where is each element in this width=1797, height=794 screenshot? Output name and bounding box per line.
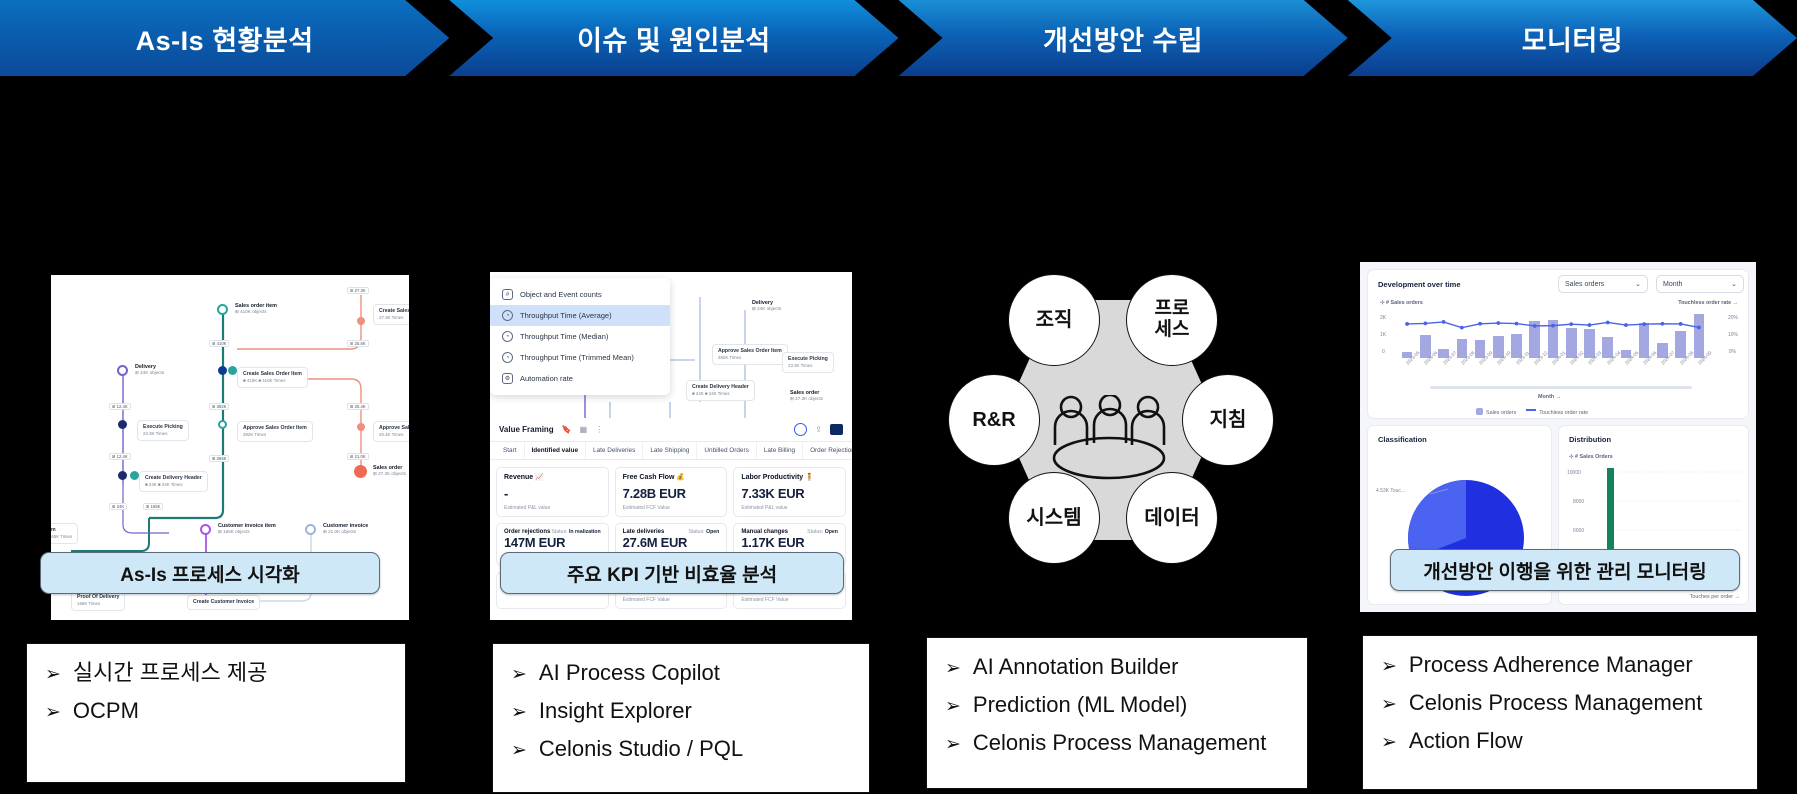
bullets-monitor: ➢ Process Adherence Manager ➢ Celonis Pr… — [1362, 635, 1758, 790]
kpi-footer: Estimated FCF Value — [741, 597, 838, 603]
tab-late-deliveries[interactable]: Late Deliveries — [586, 442, 643, 459]
object-node-delivery[interactable] — [117, 365, 128, 376]
arrow-bullet-icon: ➢ — [45, 665, 61, 684]
chart-icon: 📈 — [535, 474, 544, 481]
activity-node-create-customer-invoice[interactable]: Create Customer Invoice — [187, 595, 260, 610]
kpi-value: 27.6M EUR — [623, 535, 720, 550]
activity-title: Approve Sales Order Item — [243, 425, 307, 432]
kpi-value: 1.17K EUR — [741, 535, 838, 550]
phase-step-1[interactable]: As-Is 현황분석 — [0, 0, 449, 76]
kpi-title-label: Free Cash Flow — [623, 474, 675, 481]
hex-bubble-데이터[interactable]: 데이터 — [1126, 472, 1218, 564]
activity-title: Approve Sales Order — [379, 425, 409, 432]
arrow-bullet-icon: ➢ — [945, 659, 961, 678]
point-2024-09[interactable] — [1697, 326, 1701, 330]
chart-title-development: Development over time — [1378, 280, 1461, 289]
list-item-label: Prediction (ML Model) — [973, 694, 1187, 716]
menu-item-object-and-event-counts[interactable]: # Object and Event counts — [490, 284, 670, 305]
edge-marker — [218, 366, 227, 375]
activity-node-execute-picking[interactable]: Execute Picking 23.3K Times — [137, 420, 189, 441]
list-item: ➢ Celonis Process Management — [945, 732, 1289, 754]
edge-count-tag: ⊞ 410K — [209, 340, 229, 347]
value-framing-title: Value Framing — [499, 425, 554, 434]
y2-axis-label-touchless: Touchless order rate → — [1678, 300, 1738, 306]
clock-icon: ◔ — [502, 310, 513, 321]
hex-bubble-label: 프로 세스 — [1155, 299, 1190, 341]
status-badge: Status: Open — [688, 529, 719, 535]
x-axis-label-month: Month → — [1538, 394, 1561, 400]
edge-marker — [130, 471, 139, 480]
list-item: ➢ OCPM — [45, 700, 387, 722]
activity-node-create-delivery-header-bg[interactable]: Create Delivery Header ■ 24K ■ 24K Times — [686, 380, 755, 401]
metrics-menu[interactable]: # Object and Event counts ◔ Throughput T… — [490, 278, 670, 395]
bullet-list: ➢ Process Adherence Manager ➢ Celonis Pr… — [1381, 654, 1739, 752]
x-tick-labels: 2023-052023-062023-072023-082023-092023-… — [1398, 362, 1718, 388]
kpi-card-revenue[interactable]: Revenue 📈 - Estimated P&L value — [496, 467, 609, 517]
y-tick: 6000 — [1573, 528, 1584, 534]
edge-marker — [357, 423, 365, 431]
edge-count-tag: ⊞ 25.5K — [347, 340, 369, 347]
activity-title: Execute Picking — [788, 356, 828, 363]
hex-bubble-label: 데이터 — [1144, 507, 1199, 529]
point-2024-01[interactable] — [1551, 324, 1555, 328]
point-2023-05[interactable] — [1405, 322, 1409, 326]
object-node-sales-order-item[interactable] — [217, 304, 228, 315]
menu-item-throughput-time-average[interactable]: ◔ Throughput Time (Average) — [490, 305, 670, 326]
bullet-list: ➢ AI Process Copilot ➢ Insight Explorer … — [511, 662, 851, 760]
edge-count-tag: ⊞ 21.0K — [347, 453, 369, 460]
y-tick: 8000 — [1573, 499, 1584, 505]
grid-icon[interactable]: ▦ — [580, 425, 588, 434]
activity-node-execute-picking-bg[interactable]: Execute Picking 23.3K Times — [782, 352, 834, 373]
phase-step-3-label: 개선방안 수립 — [1043, 19, 1203, 58]
activity-node-create-delivery-header[interactable]: Create Delivery Header ■ 24K ■ 24K Times — [139, 471, 208, 492]
arrow-bullet-icon: ➢ — [511, 741, 527, 760]
publish-button[interactable] — [830, 424, 843, 435]
edge-marker — [218, 420, 227, 429]
activity-node-approve-sales-order[interactable]: Approve Sales Order 25.4K Times — [373, 421, 409, 442]
legend-swatch-bar — [1476, 408, 1483, 415]
y-tick: 1K — [1380, 332, 1386, 338]
kpi-card-free-cash-flow[interactable]: Free Cash Flow 💰 7.28B EUR Estimated FCF… — [615, 467, 728, 517]
share-icon[interactable]: ⇪ — [815, 425, 822, 434]
activity-sub: 382K Times — [718, 355, 782, 361]
dropdown-sales-orders-value: Sales orders — [1565, 281, 1604, 288]
edge-count-tag: ⊞ 12.4K — [109, 453, 131, 460]
y2-tick: 0% — [1729, 349, 1736, 355]
point-2023-08[interactable] — [1460, 326, 1464, 330]
bullet-list: ➢ AI Annotation Builder ➢ Prediction (ML… — [945, 656, 1289, 754]
legend-swatch-line — [1526, 409, 1536, 411]
activity-sub: ■ 24K ■ 24K Times — [692, 391, 749, 397]
caption-issue: 주요 KPI 기반 비효율 분석 — [500, 552, 844, 594]
object-label-delivery: Delivery⊞ 24K objects — [135, 364, 164, 376]
phase-step-2-label: 이슈 및 원인분석 — [577, 19, 770, 58]
activity-node-partial-item[interactable]: item ■ 165K Times — [51, 523, 78, 544]
hex-bubble-label: R&R — [972, 409, 1015, 431]
legend-item-touchless: Touchless order rate — [1526, 409, 1588, 416]
list-item: ➢ AI Annotation Builder — [945, 656, 1289, 678]
y-tick: 10000 — [1567, 470, 1581, 476]
object-node-customer-invoice[interactable] — [305, 524, 316, 535]
status-value: Open — [706, 529, 719, 535]
list-item-label: Action Flow — [1409, 730, 1523, 752]
point-2024-07[interactable] — [1661, 322, 1665, 326]
activity-node-create-sales-order-header[interactable]: Create Sales Order Header 27.3K Times — [373, 304, 409, 325]
status-label: Status — [807, 529, 822, 535]
bookmark-icon[interactable]: 🔖 — [562, 425, 572, 434]
line-series-touchless-order-rate — [1398, 312, 1708, 358]
activity-sub: ■ 165K Times — [51, 534, 72, 540]
activity-title: item — [51, 527, 72, 534]
bullets-as-is: ➢ 실시간 프로세스 제공 ➢ OCPM — [26, 643, 406, 783]
avatar[interactable] — [794, 423, 807, 436]
arrow-bullet-icon: ➢ — [1381, 657, 1397, 676]
y-tick: 2K — [1380, 315, 1386, 321]
point-2023-07[interactable] — [1442, 320, 1446, 324]
activity-sub: 382K Times — [243, 432, 307, 438]
object-node-customer-invoice-item[interactable] — [200, 524, 211, 535]
status-badge: Status: Open — [807, 529, 838, 535]
status-value: In realization — [569, 529, 601, 535]
tab-late-billing[interactable]: Late Billing — [757, 442, 803, 459]
kpi-title: Labor Productivity 🧍 — [741, 473, 838, 481]
list-item-label: Insight Explorer — [539, 700, 692, 722]
edge-count-tag: ⊞ 25.4K — [347, 403, 369, 410]
activity-node-approve-sales-order-item-bg[interactable]: Approve Sales Order Item 382K Times — [712, 344, 788, 365]
card-development-over-time: Development over time Sales orders ⌄ Mon… — [1367, 269, 1749, 419]
activity-sub: 23.3K Times — [143, 431, 183, 437]
chevron-down-icon: ⌄ — [1635, 280, 1641, 288]
edge-count-tag: ⊞ 12.4K — [109, 403, 131, 410]
caption-monitor: 개선방안 이행을 위한 관리 모니터링 — [1390, 549, 1740, 591]
more-icon[interactable]: ⋮ — [595, 425, 603, 434]
process-phase-header: As-Is 현황분석 이슈 및 원인분석 개선방안 수립 모니터링 — [0, 0, 1797, 76]
activity-sub: 27.3K Times — [379, 315, 409, 321]
object-label-sales-order-bg: Sales order⊞ 27.3K objects — [790, 390, 823, 402]
activity-sub: ■ 24K ■ 24K Times — [145, 482, 202, 488]
caption-monitor-label: 개선방안 이행을 위한 관리 모니터링 — [1423, 557, 1706, 584]
activity-node-create-sales-order-item[interactable]: Create Sales Order Item ■ 410K ■ 410K Ti… — [237, 367, 308, 388]
activity-title: Create Delivery Header — [145, 475, 202, 482]
list-item-label: AI Process Copilot — [539, 662, 720, 684]
tab-identified-value[interactable]: Identified value — [525, 442, 587, 459]
edge-count-tag: ⊞ 365K — [209, 455, 229, 462]
activity-sub: 165K Times — [77, 601, 119, 607]
phase-step-1-label: As-Is 현황분석 — [136, 19, 314, 58]
activity-title: Create Sales Order Header — [379, 308, 409, 315]
edge-marker — [357, 317, 365, 325]
menu-item-label: Automation rate — [520, 374, 573, 383]
menu-item-label: Object and Event counts — [520, 290, 602, 299]
phase-step-3[interactable]: 개선방안 수립 — [899, 0, 1348, 76]
activity-node-approve-sales-order-item[interactable]: Approve Sales Order Item 382K Times — [237, 421, 313, 442]
caption-as-is: As-Is 프로세스 시각화 — [40, 552, 380, 594]
activity-sub: 25.4K Times — [379, 432, 409, 438]
kpi-footer: Estimated FCF Value — [623, 505, 720, 511]
money-icon: 💰 — [676, 474, 685, 481]
tab-start[interactable]: Start — [496, 442, 525, 459]
legend-label: Sales orders — [1486, 410, 1516, 416]
kpi-title-label: Revenue — [504, 474, 533, 481]
list-item: ➢ Prediction (ML Model) — [945, 694, 1289, 716]
arrow-bullet-icon: ➢ — [1381, 695, 1397, 714]
list-item-label: AI Annotation Builder — [973, 656, 1178, 678]
list-item-label: Process Adherence Manager — [1409, 654, 1693, 676]
point-2024-06[interactable] — [1642, 322, 1646, 326]
kpi-value: - — [504, 486, 601, 501]
hex-bubble-프로세스[interactable]: 프로 세스 — [1126, 274, 1218, 366]
dropdown-month-value: Month — [1663, 281, 1682, 288]
edge-count-tag: ⊞ 24K — [109, 503, 127, 510]
list-item: ➢ 실시간 프로세스 제공 — [45, 662, 387, 684]
hex-bubble-지침[interactable]: 지침 — [1182, 374, 1274, 466]
list-item: ➢ Insight Explorer — [511, 700, 851, 722]
tab-order-rejections[interactable]: Order Rejections — [803, 442, 852, 459]
point-2023-09[interactable] — [1478, 322, 1482, 326]
arrow-bullet-icon: ➢ — [45, 703, 61, 722]
list-item: ➢ AI Process Copilot — [511, 662, 851, 684]
value-framing-tabs[interactable]: Start Identified value Late Deliveries L… — [490, 442, 852, 460]
activity-sub: 23.3K Times — [788, 363, 828, 369]
arrow-bullet-icon: ➢ — [945, 735, 961, 754]
arrow-bullet-icon: ➢ — [945, 697, 961, 716]
hash-icon: # — [502, 289, 513, 300]
menu-item-automation-rate[interactable]: ⚙ Automation rate — [490, 368, 670, 389]
menu-item-throughput-time-median[interactable]: ◔ Throughput Time (Median) — [490, 326, 670, 347]
y-tick: 0 — [1382, 349, 1385, 355]
kpi-value: 7.28B EUR — [623, 486, 720, 501]
menu-item-label: Throughput Time (Median) — [520, 332, 608, 341]
kpi-value: 147M EUR — [504, 535, 601, 550]
kpi-card-labor-productivity[interactable]: Labor Productivity 🧍 7.33K EUR Estimated… — [733, 467, 846, 517]
hex-bubble-label: 조직 — [1036, 309, 1073, 331]
y-axis-label-text: # Sales orders — [1386, 300, 1423, 306]
point-2024-03[interactable] — [1588, 323, 1592, 327]
kpi-footer: Estimated P&L value — [504, 505, 601, 511]
edge-count-tag: ⊞ 165K — [143, 503, 163, 510]
activity-title: Approve Sales Order Item — [718, 348, 782, 355]
point-2023-11[interactable] — [1515, 322, 1519, 326]
people-meeting-icon — [1045, 395, 1175, 481]
chart-legend: Sales orders Touchless order rate — [1476, 408, 1588, 416]
hex-bubble-rnr[interactable]: R&R — [948, 374, 1040, 466]
y-axis-label-sales-orders-dist: ⊹ # Sales Orders — [1569, 454, 1613, 460]
kpi-footer: Estimated FCF Value — [623, 597, 720, 603]
point-2023-06[interactable] — [1423, 322, 1427, 326]
phase-step-2[interactable]: 이슈 및 원인분석 — [449, 0, 898, 76]
activity-title: Create Customer Invoice — [193, 599, 254, 606]
caption-issue-label: 주요 KPI 기반 비효율 분석 — [567, 560, 777, 587]
arrow-bullet-icon: ➢ — [511, 665, 527, 684]
clock-icon: ◔ — [502, 352, 513, 363]
bullets-issue: ➢ AI Process Copilot ➢ Insight Explorer … — [492, 643, 870, 793]
point-2024-08[interactable] — [1679, 322, 1683, 326]
x-axis-label-touches: Touches per order → — [1690, 594, 1740, 600]
kpi-title: Free Cash Flow 💰 — [623, 473, 720, 481]
object-label-sales-order: Sales order⊞ 27.3K objects — [373, 465, 406, 477]
status-value: Open — [825, 529, 838, 535]
arrow-bullet-icon: ➢ — [511, 703, 527, 722]
dropdown-month[interactable]: Month ⌄ — [1656, 275, 1744, 293]
menu-item-label: Throughput Time (Trimmed Mean) — [520, 353, 634, 362]
arrow-bullet-icon: ➢ — [1381, 733, 1397, 752]
edge-marker — [118, 471, 127, 480]
kpi-title: Revenue 📈 — [504, 473, 601, 481]
activity-title: Create Sales Order Item — [243, 371, 302, 378]
chart-scrollbar[interactable] — [1430, 386, 1692, 389]
list-item: ➢ Action Flow — [1381, 730, 1739, 752]
list-item: ➢ Celonis Process Management — [1381, 692, 1739, 714]
chart-title-classification: Classification — [1378, 435, 1427, 444]
object-label-customer-invoice: Customer invoice⊞ 21.0K objects — [323, 523, 368, 535]
edge-count-tag: ⊞ 382K — [209, 403, 229, 410]
activity-title: Proof Of Delivery — [77, 594, 119, 601]
menu-item-label: Throughput Time (Average) — [520, 311, 612, 320]
chevron-down-icon: ⌄ — [1731, 280, 1737, 288]
caption-as-is-label: As-Is 프로세스 시각화 — [120, 560, 299, 587]
dropdown-sales-orders[interactable]: Sales orders ⌄ — [1558, 275, 1648, 293]
list-item-label: Celonis Studio / PQL — [539, 738, 743, 760]
hex-bubble-조직[interactable]: 조직 — [1008, 274, 1100, 366]
edge-marker — [228, 366, 237, 375]
y2-tick: 20% — [1728, 315, 1738, 321]
object-label-delivery-bg: Delivery⊞ 24K objects — [752, 300, 781, 312]
point-2024-04[interactable] — [1606, 321, 1610, 325]
kpi-footer: Estimated P&L value — [741, 505, 838, 511]
status-label: Status — [688, 529, 703, 535]
list-item: ➢ Celonis Studio / PQL — [511, 738, 851, 760]
y-axis-label-sales-orders: ⊹ # Sales orders — [1380, 300, 1423, 306]
bullets-improve: ➢ AI Annotation Builder ➢ Prediction (ML… — [926, 637, 1308, 789]
point-2023-10[interactable] — [1496, 321, 1500, 325]
tab-late-shipping[interactable]: Late Shipping — [643, 442, 697, 459]
kpi-title-label: Labor Productivity — [741, 474, 803, 481]
list-item: ➢ Process Adherence Manager — [1381, 654, 1739, 676]
edge-marker — [118, 420, 127, 429]
object-node-sales-order[interactable] — [354, 465, 367, 478]
hex-bubble-label: 시스템 — [1026, 507, 1081, 529]
y-axis-label-text: # Sales Orders — [1575, 454, 1613, 460]
activity-title: Create Delivery Header — [692, 384, 749, 391]
point-2023-12[interactable] — [1533, 324, 1537, 328]
activity-sub: ■ 410K ■ 410K Times — [243, 378, 302, 384]
kpi-value: 7.33K EUR — [741, 486, 838, 501]
object-label-customer-invoice-item: Customer invoice item⊞ 165K objects — [218, 523, 276, 535]
y2-axis-label-text: Touchless order rate → — [1678, 300, 1738, 306]
clock-icon: ◔ — [502, 331, 513, 342]
governance-hexagon-diagram: 조직 프로 세스 지침 데이터 시스템 R&R — [930, 280, 1290, 560]
point-2024-05[interactable] — [1624, 323, 1628, 327]
phase-step-4[interactable]: 모니터링 — [1348, 0, 1797, 76]
chart-title-distribution: Distribution — [1569, 435, 1611, 444]
value-framing-toolbar: Value Framing 🔖 ▦ ⋮ ⇪ — [490, 418, 852, 442]
hex-bubble-시스템[interactable]: 시스템 — [1008, 472, 1100, 564]
list-item-label: Celonis Process Management — [973, 732, 1266, 754]
y2-tick: 10% — [1728, 332, 1738, 338]
legend-label: Touchless order rate — [1539, 410, 1588, 416]
bullet-list: ➢ 실시간 프로세스 제공 ➢ OCPM — [45, 662, 387, 722]
list-item-label: 실시간 프로세스 제공 — [73, 662, 267, 684]
edge-count-tag: ⊞ 27.3K — [347, 287, 369, 294]
object-label-sales-order-item: Sales order item⊞ 410K objects — [235, 303, 277, 315]
tab-unbilled-orders[interactable]: Unbilled Orders — [697, 442, 756, 459]
point-2024-02[interactable] — [1569, 322, 1573, 326]
legend-item-sales-orders: Sales orders — [1476, 408, 1516, 416]
person-icon: 🧍 — [805, 474, 814, 481]
hex-bubble-label: 지침 — [1210, 409, 1247, 431]
list-item-label: Celonis Process Management — [1409, 692, 1702, 714]
activity-title: Execute Picking — [143, 424, 183, 431]
phase-step-4-label: 모니터링 — [1522, 19, 1623, 58]
robot-icon: ⚙ — [502, 373, 513, 384]
list-item-label: OCPM — [73, 700, 139, 722]
menu-item-throughput-time-trimmed-mean[interactable]: ◔ Throughput Time (Trimmed Mean) — [490, 347, 670, 368]
